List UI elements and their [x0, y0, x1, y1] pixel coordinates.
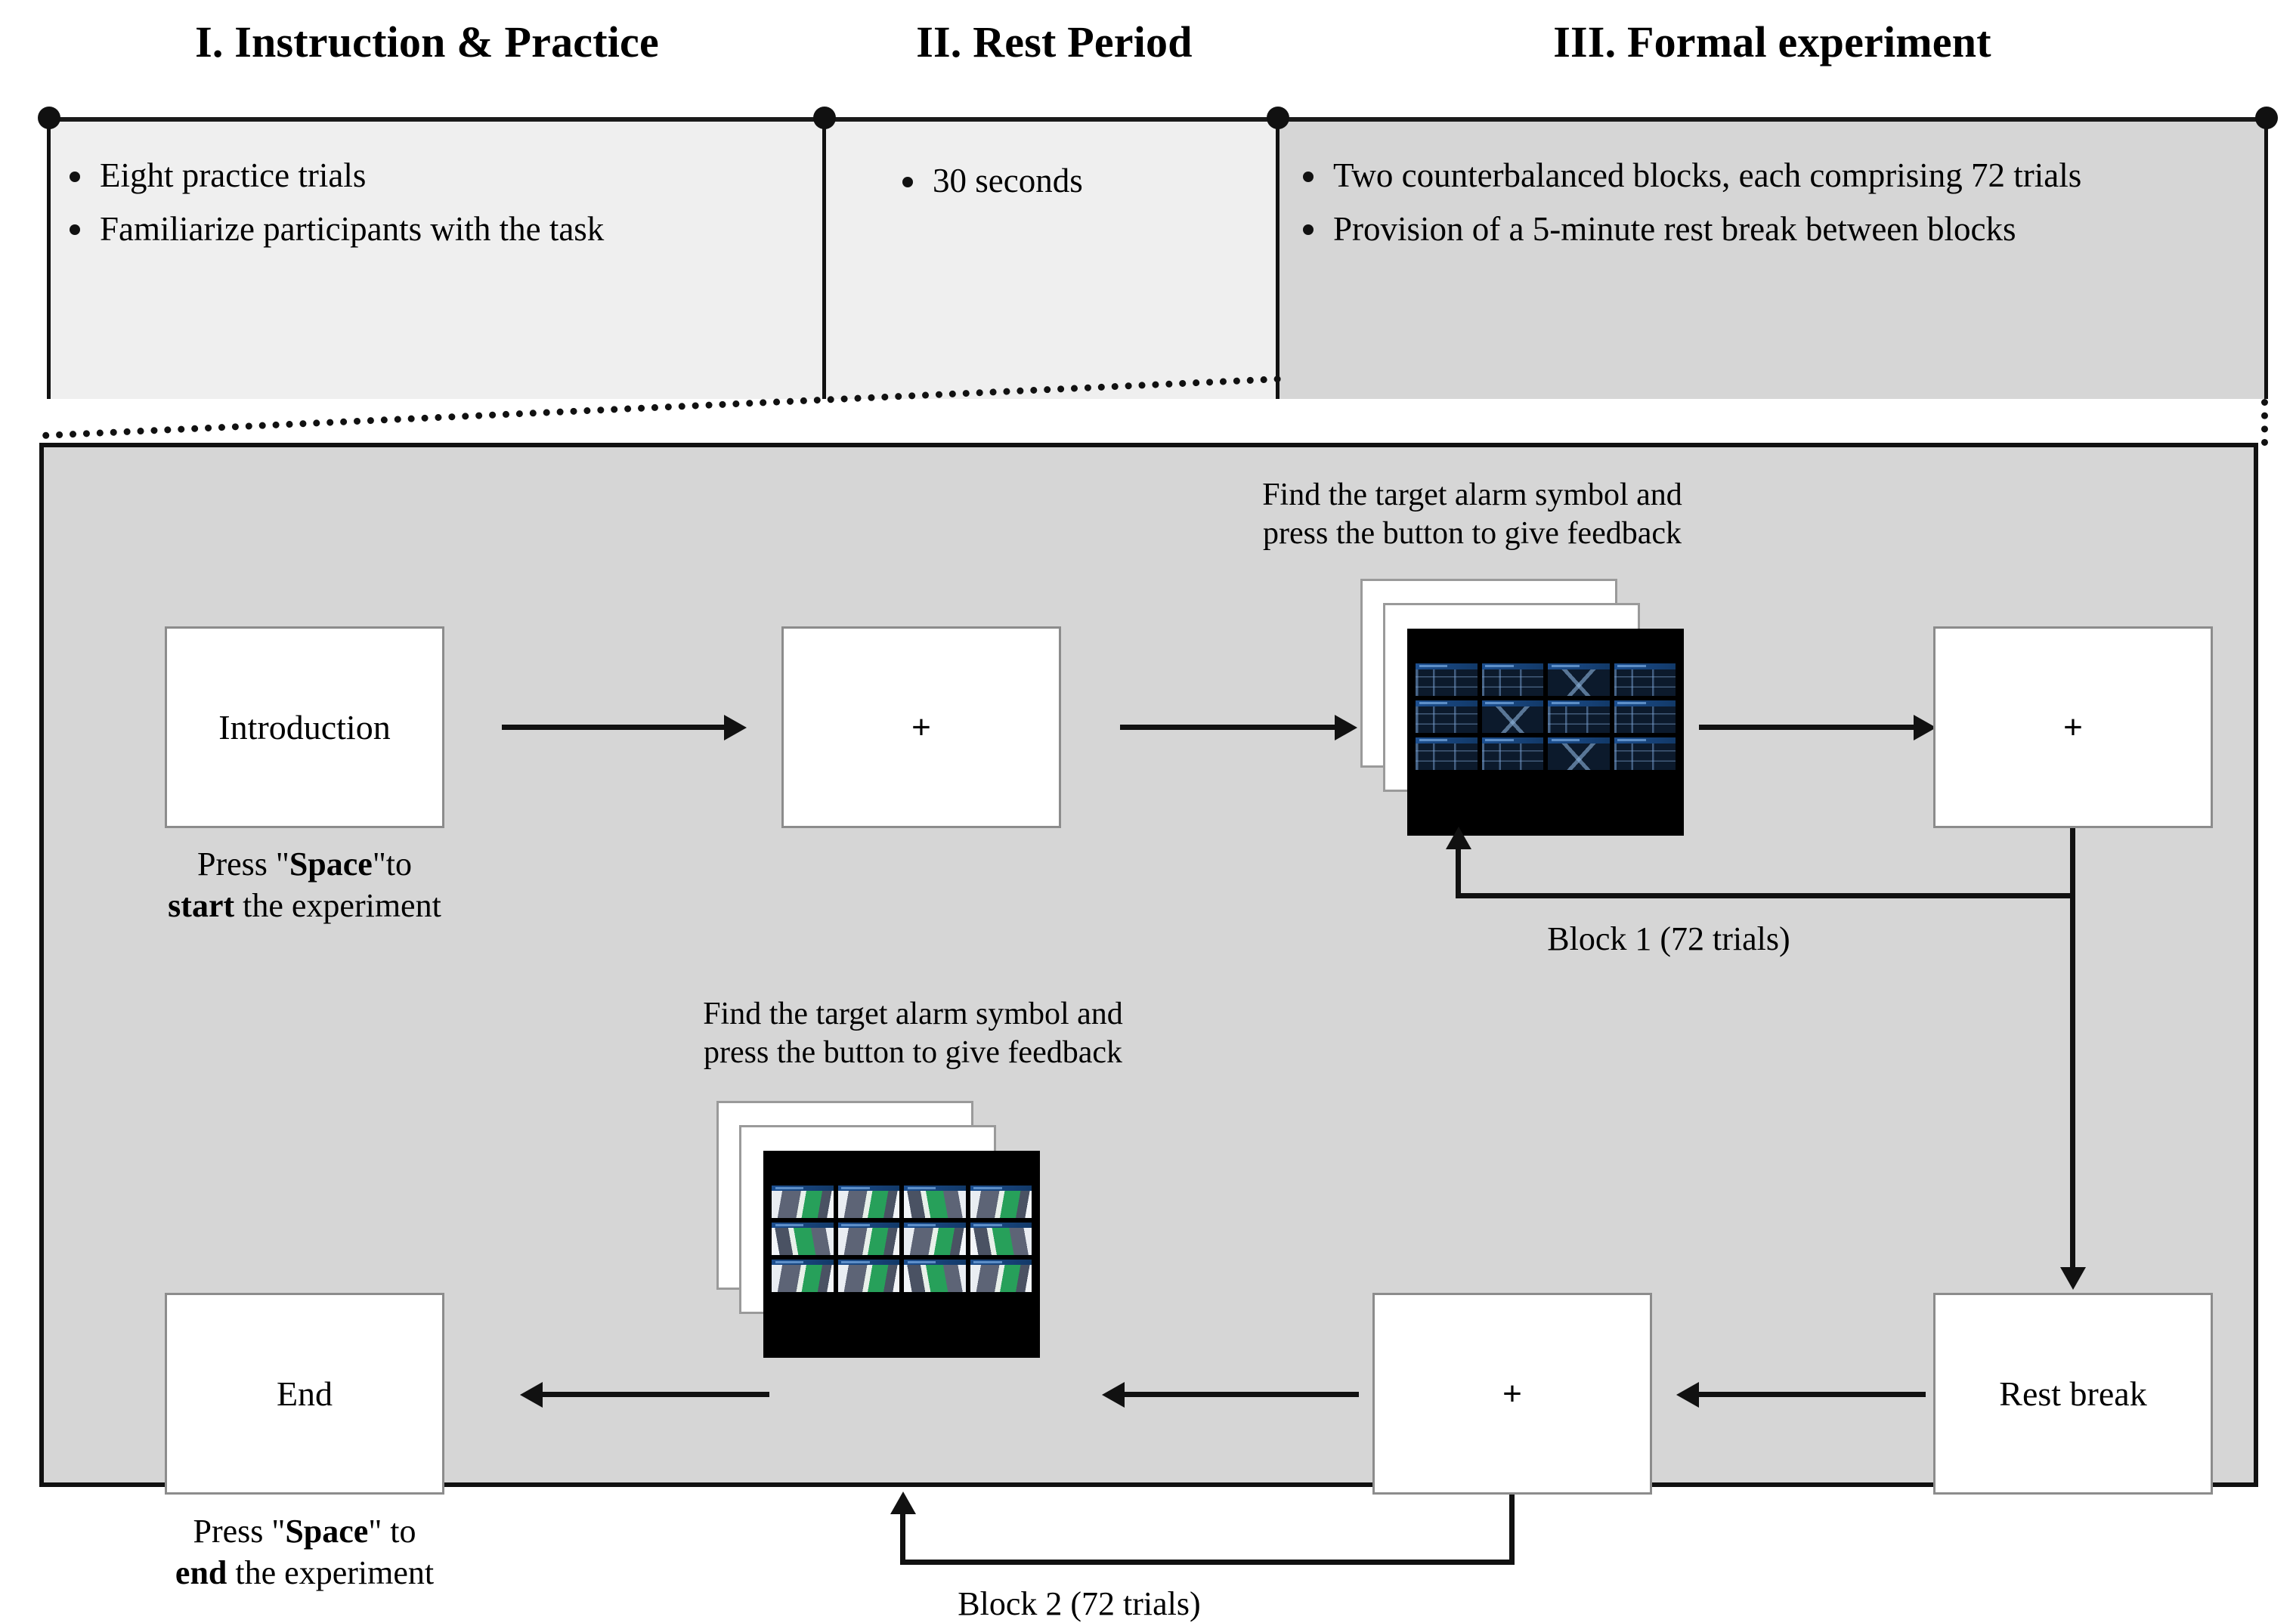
phase-title-1: I. Instruction & Practice — [45, 17, 809, 67]
stimulus-grid-block2 — [772, 1186, 1032, 1329]
block1-loop-up — [1456, 848, 1461, 895]
monitor-cell — [904, 1260, 966, 1292]
monitor-cell — [1482, 700, 1544, 733]
block2-loop-left — [900, 1560, 1515, 1565]
timeline-node-1 — [813, 107, 836, 129]
monitor-cell — [1482, 663, 1544, 696]
timeline-divider-1 — [822, 121, 826, 399]
block1-loop-left — [1456, 893, 2075, 898]
monitor-cell — [1548, 700, 1610, 733]
monitor-cell — [1416, 737, 1478, 770]
screen-introduction-label: Introduction — [218, 707, 390, 747]
end-instruction-line2: end the experiment — [119, 1553, 490, 1594]
task-prompt-block1: Find the target alarm symbol and press t… — [1162, 476, 1782, 553]
list-item: Provision of a 5-minute rest break betwe… — [1292, 209, 2256, 250]
monitor-cell — [970, 1260, 1032, 1292]
task-prompt-line1: Find the target alarm symbol and — [603, 995, 1223, 1034]
end-key-space: Space — [285, 1513, 368, 1550]
monitor-cell — [772, 1260, 834, 1292]
arrowhead-left — [1102, 1382, 1125, 1408]
end-to-text: " to — [368, 1513, 416, 1550]
arrow-fixation1-to-stimulus1 — [1120, 725, 1339, 730]
arrowhead-right — [724, 715, 747, 740]
block2-loop-down — [1509, 1495, 1515, 1564]
block2-label: Block 2 (72 trials) — [890, 1584, 1268, 1623]
arrow-stimulus2-to-end — [543, 1392, 769, 1397]
phase-title-2: II. Rest Period — [831, 17, 1277, 67]
timeline-divider-end — [2264, 121, 2268, 399]
timeline-node-2 — [1267, 107, 1289, 129]
monitor-cell — [970, 1186, 1032, 1218]
timeline-divider-2 — [1276, 121, 1280, 399]
intro-press-text: Press " — [197, 846, 289, 883]
intro-experiment-text: the experiment — [234, 887, 441, 924]
screen-rest-break-label: Rest break — [1999, 1374, 2146, 1414]
phase-bullets-2: 30 seconds — [892, 160, 1270, 214]
monitor-cell — [1614, 663, 1676, 696]
list-item: Familiarize participants with the task — [59, 209, 800, 250]
intro-instruction: Press "Space"to start the experiment — [119, 844, 490, 926]
monitor-cell — [1548, 737, 1610, 770]
arrowhead-up — [890, 1492, 916, 1514]
monitor-cell — [904, 1223, 966, 1255]
expansion-connector-right — [2261, 399, 2268, 446]
arrow-stimulus1-to-fixation2 — [1699, 725, 1918, 730]
monitor-cell — [838, 1186, 900, 1218]
phase-title-3: III. Formal experiment — [1285, 17, 2260, 67]
arrow-fixation3-to-stimulus2 — [1125, 1392, 1359, 1397]
monitor-cell — [1416, 700, 1478, 733]
screen-end-label: End — [277, 1374, 333, 1414]
monitor-cell — [904, 1186, 966, 1218]
monitor-cell — [1614, 737, 1676, 770]
monitor-cell — [838, 1260, 900, 1292]
monitor-cell — [772, 1186, 834, 1218]
screen-fixation-1[interactable]: + — [781, 626, 1061, 828]
arrowhead-down — [2060, 1267, 2086, 1290]
screen-end[interactable]: End — [165, 1293, 444, 1495]
task-prompt-line1: Find the target alarm symbol and — [1162, 476, 1782, 515]
task-prompt-block2: Find the target alarm symbol and press t… — [603, 995, 1223, 1072]
stimulus-stack-block2[interactable] — [716, 1101, 1034, 1358]
list-item: Two counterbalanced blocks, each compris… — [1292, 155, 2256, 196]
arrow-intro-to-fixation1 — [502, 725, 729, 730]
monitor-cell — [838, 1223, 900, 1255]
end-press-text: Press " — [193, 1513, 285, 1550]
arrow-to-rest-break — [2070, 828, 2075, 1270]
end-experiment-text: the experiment — [227, 1554, 434, 1591]
fixation-cross-3: + — [1502, 1377, 1522, 1411]
monitor-cell — [1416, 663, 1478, 696]
arrowhead-right — [1335, 715, 1357, 740]
figure-root: I. Instruction & Practice II. Rest Perio… — [0, 0, 2296, 1513]
screen-fixation-3[interactable]: + — [1372, 1293, 1652, 1495]
monitor-cell — [1548, 663, 1610, 696]
arrowhead-left — [520, 1382, 543, 1408]
stimulus-screen-block1 — [1407, 629, 1684, 836]
block1-label: Block 1 (72 trials) — [1480, 920, 1858, 958]
end-instruction: Press "Space" to end the experiment — [119, 1511, 490, 1594]
list-item: 30 seconds — [892, 160, 1270, 202]
task-prompt-line2: press the button to give feedback — [1162, 515, 1782, 553]
intro-to-text: "to — [373, 846, 412, 883]
task-prompt-line2: press the button to give feedback — [603, 1034, 1223, 1072]
arrowhead-left — [1676, 1382, 1699, 1408]
timeline-divider-start — [47, 121, 51, 399]
list-item: Eight practice trials — [59, 155, 800, 196]
intro-start-word: start — [168, 887, 234, 924]
monitor-cell — [970, 1223, 1032, 1255]
phase-bullets-3: Two counterbalanced blocks, each compris… — [1292, 155, 2256, 262]
intro-instruction-line1: Press "Space"to — [119, 844, 490, 886]
timeline-node-start — [38, 107, 60, 129]
block2-loop-up — [900, 1513, 905, 1562]
monitor-cell — [1614, 700, 1676, 733]
stimulus-stack-block1[interactable] — [1360, 579, 1678, 836]
timeline-node-end — [2255, 107, 2278, 129]
screen-fixation-2[interactable]: + — [1933, 626, 2213, 828]
end-instruction-line1: Press "Space" to — [119, 1511, 490, 1553]
stimulus-grid-block1 — [1416, 663, 1676, 807]
timeline-rule — [47, 117, 2267, 122]
intro-key-space: Space — [289, 846, 373, 883]
phase-bullets-1: Eight practice trials Familiarize partic… — [59, 155, 800, 262]
monitor-cell — [1482, 737, 1544, 770]
fixation-cross-1: + — [911, 711, 931, 744]
screen-rest-break[interactable]: Rest break — [1933, 1293, 2213, 1495]
stimulus-screen-block2 — [763, 1151, 1040, 1358]
arrow-restbreak-to-fixation3 — [1699, 1392, 1926, 1397]
screen-introduction[interactable]: Introduction — [165, 626, 444, 828]
end-end-word: end — [175, 1554, 227, 1591]
intro-instruction-line2: start the experiment — [119, 886, 490, 927]
formal-experiment-flow: Find the target alarm symbol and press t… — [39, 443, 2258, 1487]
arrowhead-up — [1446, 827, 1471, 849]
monitor-cell — [772, 1223, 834, 1255]
fixation-cross-2: + — [2063, 711, 2083, 744]
